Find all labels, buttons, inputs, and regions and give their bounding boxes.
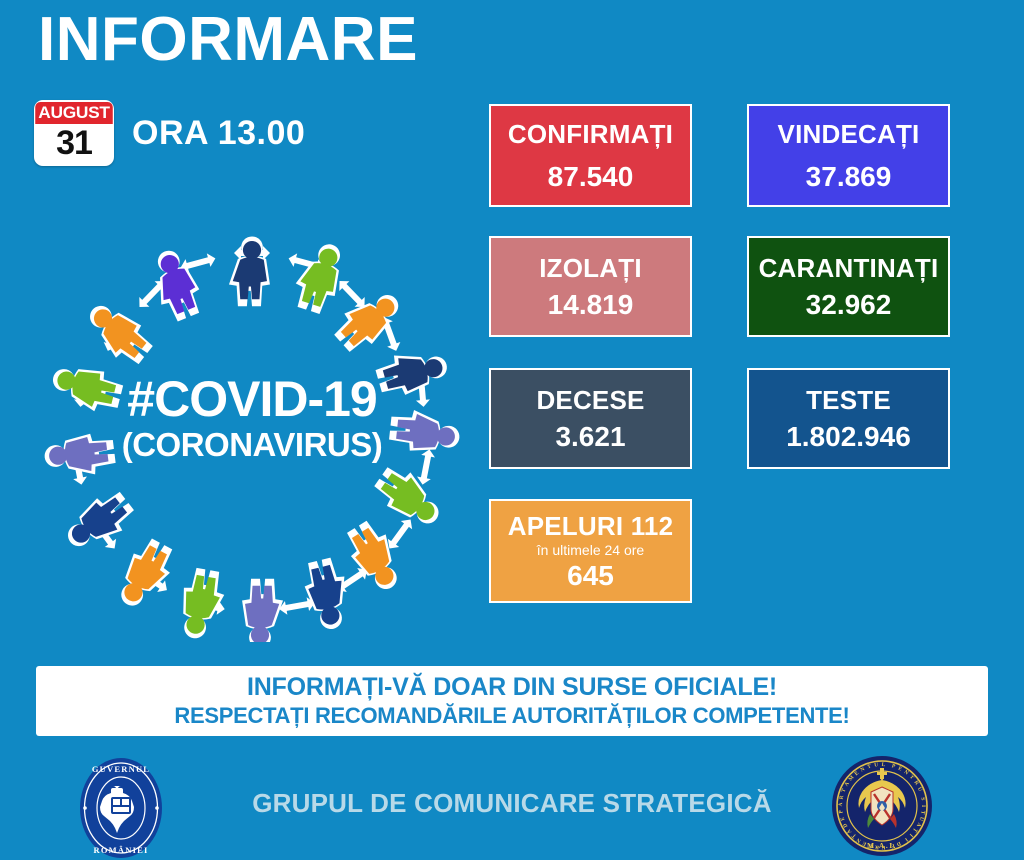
people-circle-social-distancing-icon: #COVID-19 (CORONAVIRUS)	[42, 222, 462, 642]
stat-card-vindecati: VINDECAȚI 37.869	[747, 104, 950, 207]
footer-title: GRUPUL DE COMUNICARE STRATEGICĂ	[0, 788, 1024, 819]
stat-label-vindecati: VINDECAȚI	[778, 119, 920, 149]
stat-card-confirmati: CONFIRMAȚI 87.540	[489, 104, 692, 207]
banner-line-2: RESPECTAȚI RECOMANDĂRILE AUTORITĂȚILOR C…	[174, 703, 849, 729]
stat-card-apeluri: APELURI 112 în ultimele 24 ore 645	[489, 499, 692, 603]
stat-card-decese: DECESE 3.621	[489, 368, 692, 469]
stat-value-decese: 3.621	[555, 421, 625, 453]
stat-card-carantinati: CARANTINAȚI 32.962	[747, 236, 950, 337]
stat-value-carantinati: 32.962	[806, 289, 892, 321]
official-sources-banner: INFORMAȚI-VĂ DOAR DIN SURSE OFICIALE! RE…	[36, 666, 988, 736]
stat-card-teste: TESTE 1.802.946	[747, 368, 950, 469]
stat-value-izolati: 14.819	[548, 289, 634, 321]
stat-value-vindecati: 37.869	[806, 161, 892, 193]
stat-value-apeluri: 645	[567, 560, 614, 592]
hour-label: ORA 13.00	[132, 114, 305, 153]
page-title: INFORMARE	[38, 7, 418, 72]
calendar-month-label: AUGUST	[35, 102, 113, 124]
footer: GUVERNUL ROMÂNIEI M.A.I. D E	[0, 748, 1024, 860]
stat-label-carantinati: CARANTINAȚI	[759, 253, 939, 283]
stat-label-izolati: IZOLAȚI	[539, 253, 642, 283]
logo-left-text-top: GUVERNUL	[92, 764, 150, 774]
stat-card-izolati: IZOLAȚI 14.819	[489, 236, 692, 337]
banner-line-1: INFORMAȚI-VĂ DOAR DIN SURSE OFICIALE!	[247, 673, 777, 701]
stat-label-decese: DECESE	[536, 385, 644, 415]
logo-left-text-bottom: ROMÂNIEI	[94, 845, 149, 855]
stat-sublabel-apeluri: în ultimele 24 ore	[537, 542, 644, 558]
date-row: AUGUST 31 ORA 13.00	[34, 100, 305, 166]
svg-text:L: L	[882, 762, 886, 768]
stat-value-teste: 1.802.946	[786, 421, 911, 453]
calendar-day-label: 31	[36, 124, 112, 164]
stat-value-confirmati: 87.540	[548, 161, 634, 193]
svg-text:U: U	[881, 844, 885, 850]
stat-label-confirmati: CONFIRMAȚI	[508, 119, 673, 149]
stat-label-teste: TESTE	[806, 385, 891, 415]
stat-label-apeluri: APELURI 112	[508, 511, 674, 541]
calendar-icon: AUGUST 31	[34, 100, 114, 166]
